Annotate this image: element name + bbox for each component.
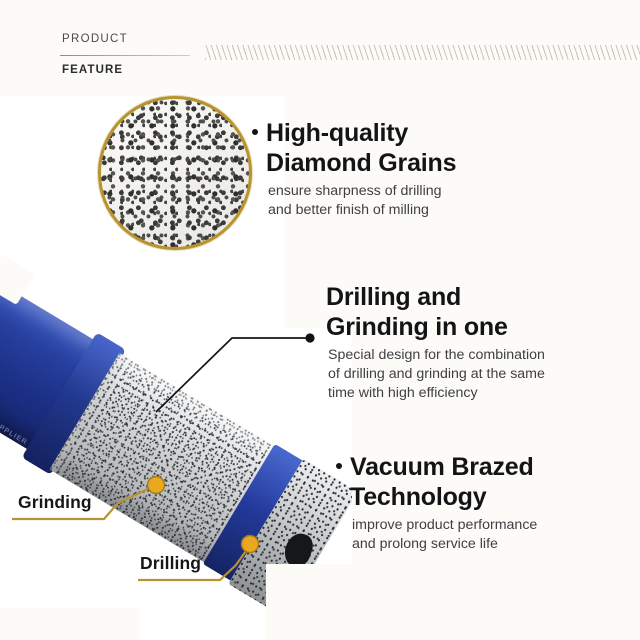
feature-desc-line2: and prolong service life (352, 536, 498, 552)
header-divider (60, 55, 190, 56)
feature-block-vacuum-brazed: Vacuum Brazed Technology improve product… (336, 452, 636, 554)
feature-title-line1: Drilling and (326, 283, 461, 311)
feature-title-line1: High-quality (266, 119, 408, 147)
feature-description: ensure sharpness of drilling and better … (252, 182, 552, 220)
feature-title-line2: Diamond Grains (266, 149, 456, 177)
feature-desc-line2: and better finish of milling (268, 202, 429, 218)
callout-label-drilling: Drilling (140, 553, 201, 574)
feature-desc-line2: of drilling and grinding at the same (328, 366, 545, 382)
photo-edge-mask-bottom-left (0, 608, 140, 640)
feature-description: improve product performance and prolong … (336, 516, 636, 554)
feature-desc-line1: Special design for the combination (328, 347, 545, 363)
diamond-grain-closeup-icon (98, 96, 252, 250)
product-feature-infographic: PRODUCT FEATURE DIATOOL PROFESSIONAL SUP… (0, 0, 640, 640)
bullet-icon (252, 129, 258, 135)
feature-title-line2: Technology (350, 483, 486, 511)
feature-desc-line3: time with high efficiency (328, 385, 478, 401)
feature-desc-line1: ensure sharpness of drilling (268, 183, 442, 199)
hatch-pattern-decoration (205, 45, 640, 60)
shank-hex-notch-top (0, 254, 35, 305)
callout-label-grinding: Grinding (18, 492, 92, 513)
feature-description: Special design for the combination of dr… (312, 346, 632, 403)
bullet-icon (336, 463, 342, 469)
feature-desc-line1: improve product performance (352, 517, 537, 533)
feature-title: High-quality Diamond Grains (252, 118, 552, 178)
header-title-product: PRODUCT (62, 33, 128, 45)
feature-block-diamond-grains: High-quality Diamond Grains ensure sharp… (252, 118, 552, 220)
feature-title: Vacuum Brazed Technology (336, 452, 636, 512)
photo-edge-mask-bottom-right (266, 564, 352, 640)
feature-block-drilling-grinding: Drilling and Grinding in one Special des… (312, 282, 632, 403)
feature-title-line1: Vacuum Brazed (350, 453, 534, 481)
header: PRODUCT FEATURE (0, 0, 640, 92)
feature-title-line2: Grinding in one (326, 313, 508, 341)
header-title-feature: FEATURE (62, 64, 123, 76)
feature-title: Drilling and Grinding in one (312, 282, 632, 342)
